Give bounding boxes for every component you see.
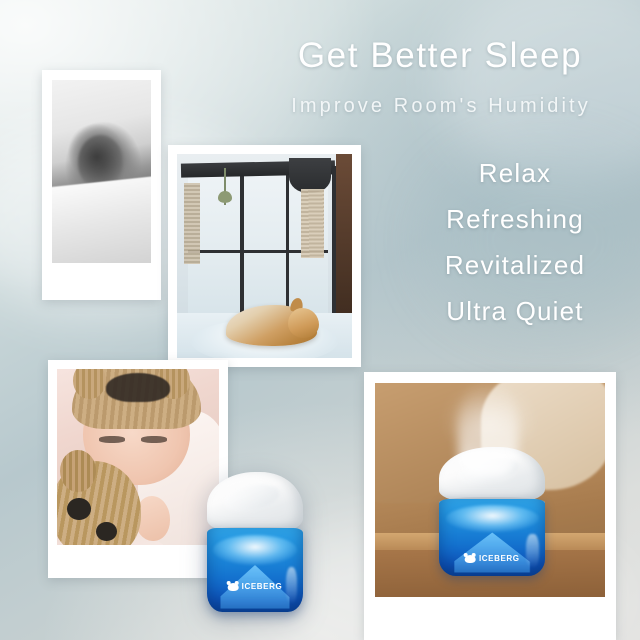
product-render-in-scene: ICEBERG: [439, 447, 545, 575]
brand-logo: ICEBERG: [465, 555, 520, 563]
feature-item-ultra-quiet: Ultra Quiet: [404, 298, 626, 324]
photo-frame-humidifier-nightstand: ICEBERG: [364, 372, 616, 640]
photo-frame-newborn: [48, 360, 228, 578]
photo-humidifier-nightstand: ICEBERG: [375, 383, 605, 597]
product-marketing-banner: ICEBERG ICEBERG Get Better Sleep Improve…: [0, 0, 640, 640]
brand-name: ICEBERG: [479, 555, 520, 563]
product-cap: [207, 472, 303, 531]
feature-list: Relax Refreshing Revitalized Ultra Quiet: [404, 160, 626, 324]
photo-sleeping-man: [52, 80, 151, 263]
subheadline: Improve Room's Humidity: [248, 96, 634, 116]
product-body: [439, 499, 545, 576]
product-render-standalone: ICEBERG: [207, 472, 303, 612]
product-cap: [439, 447, 545, 501]
photo-newborn: [57, 369, 219, 545]
polar-bear-icon: [465, 555, 476, 563]
brand-name: ICEBERG: [242, 583, 283, 591]
polar-bear-icon: [228, 583, 239, 591]
feature-item-refreshing: Refreshing: [404, 206, 626, 232]
photo-cat-window: [177, 154, 352, 358]
feature-item-relax: Relax: [404, 160, 626, 186]
headline: Get Better Sleep: [250, 38, 630, 73]
brand-logo: ICEBERG: [228, 583, 283, 591]
cat-figure: [226, 305, 317, 346]
product-body: [207, 528, 303, 612]
feature-item-revitalized: Revitalized: [404, 252, 626, 278]
photo-frame-cat-window: [168, 145, 361, 367]
photo-frame-sleeping-man: [42, 70, 161, 300]
